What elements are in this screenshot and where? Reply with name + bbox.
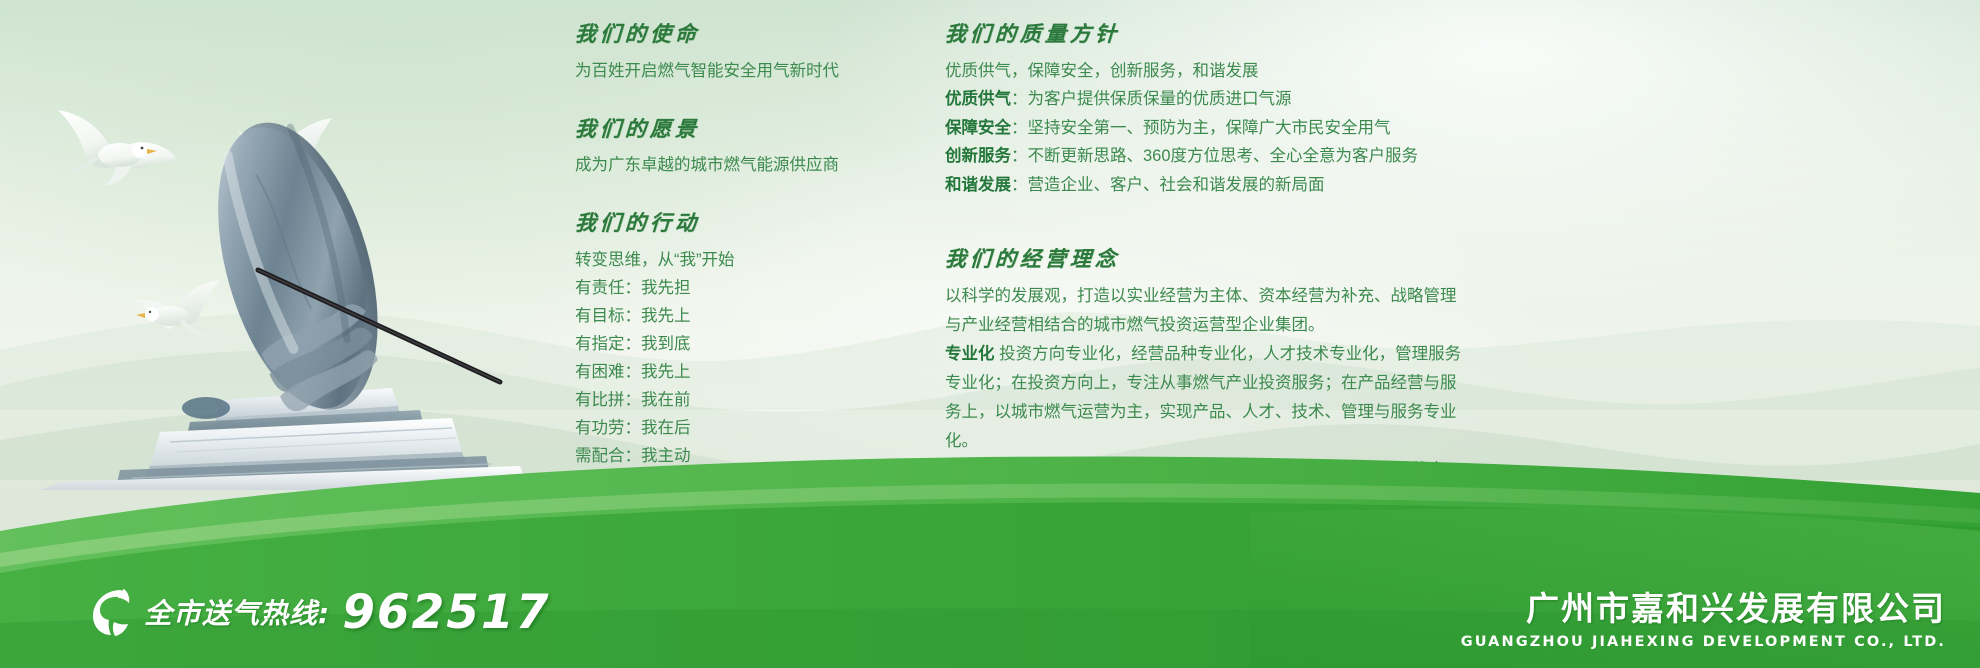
quality-policy-text: 为客户提供保质保量的优质进口气源 [1028, 90, 1292, 108]
company-name-cn: 广州市嘉和兴发展有限公司 [1461, 590, 1946, 629]
company-name-en: GUANGZHOU JIAHEXING DEVELOPMENT CO., LTD… [1461, 634, 1946, 650]
hotline-group[interactable]: 全市送气热线: 962517 [88, 584, 550, 640]
core-value-key: 坚持 [575, 625, 608, 643]
core-value-sep: ： [608, 569, 625, 587]
business-philosophy-key: 专业化 [945, 345, 995, 363]
sep: ： [1011, 119, 1028, 137]
sundial-monument-photo [0, 70, 560, 490]
quality-policy-text: 坚持安全第一、预防为主，保障广大市民安全用气 [1028, 119, 1391, 137]
mission-heading: 我们的使命 [574, 18, 916, 50]
core-value-text: 和谐共赢 [625, 597, 691, 615]
section-core-values: 我们的核心价值观 创新：永恒创新，精细不止 和谐：和谐共赢 坚持：严谨负责，坚持… [575, 526, 915, 649]
action-line: 有责任：我先担 [575, 274, 915, 302]
action-line: 需配合：我主动 [575, 442, 915, 470]
core-value-key: 和谐 [575, 597, 608, 615]
quality-policy-key: 创新服务 [945, 147, 1011, 165]
spacer [945, 561, 1465, 571]
action-line: 转变思维，从“我”开始 [575, 246, 915, 274]
business-philosophy-item: 专业化 投资方向专业化，经营品种专业化，人才技术专业化，管理服务专业化；在投资方… [945, 340, 1465, 456]
spacer [575, 516, 915, 526]
action-line: 需关爱：我有心 [575, 470, 915, 498]
section-mission: 我们的使命 为百姓开启燃气智能安全用气新时代 [575, 18, 915, 85]
action-line: 有困难：我先上 [575, 358, 915, 386]
action-line: 有指定：我到底 [575, 330, 915, 358]
core-value-sep: ： [608, 625, 625, 643]
sep: ： [1011, 147, 1028, 165]
business-philosophy-text: 投资方向专业化，经营品种专业化，人才技术专业化，管理服务专业化；在投资方向上，专… [945, 345, 1461, 450]
quality-policy-text: 营造企业、客户、社会和谐发展的新局面 [1028, 176, 1325, 194]
sep: ： [1011, 176, 1028, 194]
quality-policy-item: 优质供气：为客户提供保质保量的优质进口气源 [945, 85, 1465, 114]
company-identity: 广州市嘉和兴发展有限公司 GUANGZHOU JIAHEXING DEVELOP… [1461, 590, 1946, 650]
business-philosophy-item: 品牌化 打造嘉和兴燃气成为广州行业最优秀品牌，消费者最信赖的企业，政府最放心的企… [945, 456, 1465, 543]
section-culture-core: 企业文化核心理念 安全供气 追求卓越 创新发展 和谐共进 [945, 571, 1465, 638]
quality-policy-key: 优质供气 [945, 90, 1011, 108]
quality-policy-item: 保障安全：坚持安全第一、预防为主，保障广大市民安全用气 [945, 114, 1465, 143]
spacer [945, 217, 1465, 243]
hotline-number: 962517 [342, 589, 550, 636]
core-value-key: 创新 [575, 569, 608, 587]
action-line: 有比拼：我在前 [575, 386, 915, 414]
core-value-item: 坚持：严谨负责，坚持前行 [575, 620, 915, 648]
business-philosophy-intro: 以科学的发展观，打造以实业经营为主体、资本经营为补充、战略管理与产业经营相结合的… [945, 282, 1465, 340]
core-values-heading: 我们的核心价值观 [574, 526, 916, 558]
core-value-item: 创新：永恒创新，精细不止 [575, 564, 915, 592]
quality-policy-item: 创新服务：不断更新思路、360度方位思考、全心全意为客户服务 [945, 142, 1465, 171]
poster-canvas: 我们的使命 为百姓开启燃气智能安全用气新时代 我们的愿景 成为广东卓越的城市燃气… [0, 0, 1980, 668]
mission-line-1: 为百姓开启燃气智能安全用气新时代 [575, 57, 915, 85]
section-quality-policy: 我们的质量方针 优质供气，保障安全，创新服务，和谐发展 优质供气：为客户提供保质… [945, 18, 1465, 199]
spacer [575, 103, 915, 113]
hotline-label: 全市送气热线: [144, 592, 330, 632]
quality-policy-heading: 我们的质量方针 [944, 18, 1466, 50]
quality-policy-key: 和谐发展 [945, 176, 1011, 194]
culture-core-line: 安全供气 追求卓越 创新发展 和谐共进 [945, 609, 1465, 638]
core-value-item: 和谐：和谐共赢 [575, 592, 915, 620]
section-vision: 我们的愿景 成为广东卓越的城市燃气能源供应商 [575, 113, 915, 180]
sep: ： [1011, 90, 1028, 108]
culture-core-heading: 企业文化核心理念 [944, 571, 1466, 603]
right-text-column: 我们的质量方针 优质供气，保障安全，创新服务，和谐发展 优质供气：为客户提供保质… [945, 18, 1465, 656]
core-value-sep: ： [608, 597, 625, 615]
vision-heading: 我们的愿景 [574, 113, 916, 145]
core-value-text: 严谨负责，坚持前行 [625, 625, 774, 643]
spacer [575, 197, 915, 207]
business-philosophy-text: 打造嘉和兴燃气成为广州行业最优秀品牌，消费者最信赖的企业，政府最放心的企业；在具… [945, 461, 1457, 537]
vision-line-1: 成为广东卓越的城市燃气能源供应商 [575, 151, 915, 179]
section-business-philosophy: 我们的经营理念 以科学的发展观，打造以实业经营为主体、资本经营为补充、战略管理与… [945, 243, 1465, 543]
quality-policy-text: 不断更新思路、360度方位思考、全心全意为客户服务 [1028, 147, 1419, 165]
section-action: 我们的行动 转变思维，从“我”开始 有责任：我先担 有目标：我先上 有指定：我到… [575, 207, 915, 498]
core-value-text: 永恒创新，精细不止 [625, 569, 774, 587]
quality-policy-item: 和谐发展：营造企业、客户、社会和谐发展的新局面 [945, 171, 1465, 200]
middle-text-column: 我们的使命 为百姓开启燃气智能安全用气新时代 我们的愿景 成为广东卓越的城市燃气… [575, 18, 915, 666]
phone-handset-icon [88, 586, 134, 638]
business-philosophy-heading: 我们的经营理念 [944, 243, 1466, 275]
business-philosophy-key: 品牌化 [945, 461, 995, 479]
action-line: 有功劳：我在后 [575, 414, 915, 442]
action-heading: 我们的行动 [574, 207, 916, 239]
quality-policy-key: 保障安全 [945, 119, 1011, 137]
action-line: 有目标：我先上 [575, 302, 915, 330]
quality-policy-lead: 优质供气，保障安全，创新服务，和谐发展 [945, 57, 1465, 86]
